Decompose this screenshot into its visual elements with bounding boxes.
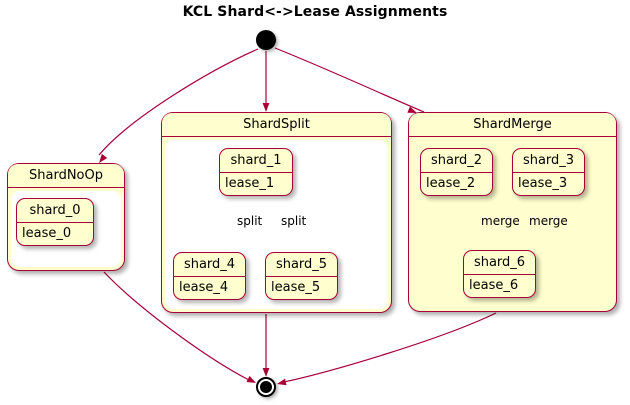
state-node-attribute: lease_1 xyxy=(220,173,292,195)
state-node-attribute: lease_0 xyxy=(17,223,93,245)
edge-label: split xyxy=(237,214,262,228)
final-state-inner-dot xyxy=(260,381,272,393)
state-node-attribute: lease_6 xyxy=(464,275,535,297)
arrowhead-start-to-shardsplit xyxy=(263,103,270,112)
state-node-shard_0[interactable]: shard_0lease_0 xyxy=(16,198,94,246)
state-node-name: shard_6 xyxy=(464,251,535,275)
state-node-attribute: lease_2 xyxy=(421,173,492,195)
state-node-name: shard_3 xyxy=(513,149,584,173)
edge-label: split xyxy=(281,214,306,228)
state-node-shard_1[interactable]: shard_1lease_1 xyxy=(219,148,293,196)
state-node-shard_4[interactable]: shard_4lease_4 xyxy=(173,252,246,300)
edge-label: merge xyxy=(529,214,568,228)
state-node-name: shard_1 xyxy=(220,149,292,173)
state-node-shard_3[interactable]: shard_3lease_3 xyxy=(512,148,585,196)
state-node-name: shard_4 xyxy=(174,253,245,277)
edge-label: merge xyxy=(481,214,520,228)
state-node-attribute: lease_3 xyxy=(513,173,584,195)
state-node-attribute: lease_4 xyxy=(174,277,245,299)
state-node-name: shard_0 xyxy=(17,199,93,223)
final-state-node[interactable] xyxy=(256,377,276,397)
composite-state-label: ShardSplit xyxy=(162,113,391,137)
state-node-shard_2[interactable]: shard_2lease_2 xyxy=(420,148,493,196)
initial-state-node[interactable] xyxy=(256,30,276,50)
state-node-name: shard_5 xyxy=(266,253,337,277)
state-node-attribute: lease_5 xyxy=(266,277,337,299)
state-node-name: shard_2 xyxy=(421,149,492,173)
arrowhead-shardmerge-to-end xyxy=(276,379,286,388)
composite-state-label: ShardMerge xyxy=(409,113,616,137)
edge-shardmerge-to-end xyxy=(284,313,496,382)
composite-state-label: ShardNoOp xyxy=(8,164,124,188)
state-diagram-canvas: KCL Shard<->Lease Assignments ShardNoOpS… xyxy=(0,0,630,405)
state-node-shard_6[interactable]: shard_6lease_6 xyxy=(463,250,536,298)
edge-start-to-shardmerge xyxy=(275,48,424,112)
arrowhead-shardsplit-to-end xyxy=(263,368,270,377)
state-node-shard_5[interactable]: shard_5lease_5 xyxy=(265,252,338,300)
